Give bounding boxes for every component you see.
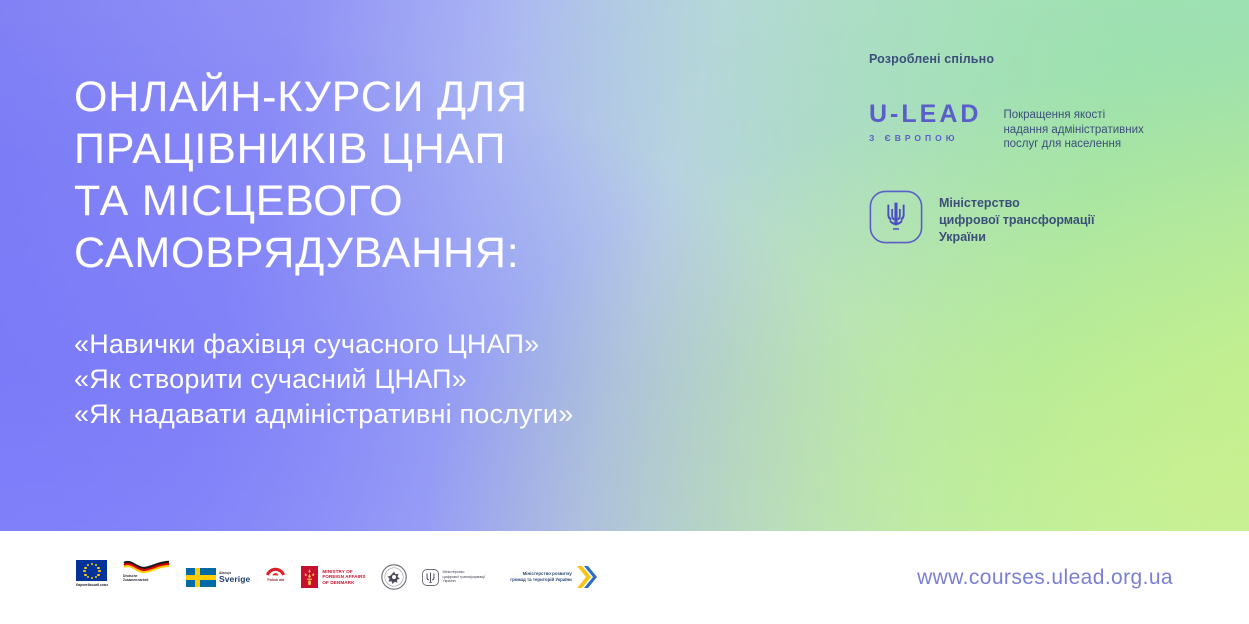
list-item: «Як надавати адміністративні послуги» (74, 397, 794, 432)
ulead-wordmark: U-LEAD (869, 102, 981, 127)
donor-logo-circular-emblem (381, 564, 407, 590)
ulead-tagline: Покращення якості надання адміністративн… (1003, 100, 1143, 152)
eu-flag-icon (76, 560, 107, 581)
donor-caption: Deutsche Zusammenarbeit (123, 574, 149, 582)
donor-logo-denmark-mfa: MINISTRY OF FOREIGN AFFAIRS OF DENMARK (301, 560, 365, 594)
donor-caption: Європейський союз (76, 583, 108, 587)
partners-kicker: Розроблені спільно (869, 52, 1199, 66)
donor-logo-mindigital: Міністерство цифрової трансформації Укра… (422, 560, 486, 594)
list-item: «Як створити сучасний ЦНАП» (74, 362, 794, 397)
ulead-logo: U-LEAD З ЄВРОПОЮ (869, 100, 981, 143)
site-url-link[interactable]: www.courses.ulead.org.ua (917, 566, 1173, 590)
list-item: «Навички фахівця сучасного ЦНАП» (74, 327, 794, 362)
donor-caption: Polish aid (267, 578, 284, 582)
donor-logo-strip: Європейський союз Deutsche Zusammenarbei… (76, 557, 597, 597)
donor-caption: Міністерство цифрової трансформації Укра… (443, 570, 486, 584)
ministry-name: Міністерство цифрової трансформації Укра… (939, 190, 1095, 246)
donor-logo-germany-cooperation: Deutsche Zusammenarbeit (123, 560, 171, 594)
polish-aid-icon (265, 560, 286, 576)
denmark-shield-icon (301, 566, 318, 588)
promo-banner: ОНЛАЙН-КУРСИ ДЛЯ ПРАЦІВНИКІВ ЦНАП ТА МІС… (0, 0, 1249, 624)
course-list: «Навички фахівця сучасного ЦНАП» «Як ств… (74, 327, 794, 432)
partners-block: Розроблені спільно U-LEAD З ЄВРОПОЮ Покр… (869, 52, 1199, 246)
trident-small-icon (422, 569, 439, 586)
chevron-right-icon (575, 565, 597, 589)
page-title: ОНЛАЙН-КУРСИ ДЛЯ ПРАЦІВНИКІВ ЦНАП ТА МІС… (74, 71, 714, 279)
donor-caption: Sverige (219, 575, 250, 584)
donor-logo-minregion: Міністерство розвитку громад та територі… (510, 560, 597, 594)
donor-logo-polish-aid: Polish aid (265, 560, 286, 594)
footer-bar: Європейський союз Deutsche Zusammenarbei… (0, 531, 1249, 624)
donor-caption: MINISTRY OF FOREIGN AFFAIRS OF DENMARK (322, 569, 365, 586)
donor-logo-european-union: Європейський союз (76, 560, 108, 594)
donor-caption: Міністерство розвитку громад та територі… (510, 571, 572, 582)
germany-cooperation-icon (123, 560, 171, 573)
sweden-flag-icon (186, 568, 216, 587)
ulead-partner: U-LEAD З ЄВРОПОЮ Покращення якості надан… (869, 100, 1199, 152)
circular-emblem-icon (381, 564, 407, 590)
donor-logo-sweden: Швеція Sverige (186, 560, 250, 594)
ukraine-trident-icon (869, 190, 923, 244)
ministry-partner: Міністерство цифрової трансформації Укра… (869, 190, 1199, 246)
ulead-subtitle: З ЄВРОПОЮ (869, 134, 981, 143)
